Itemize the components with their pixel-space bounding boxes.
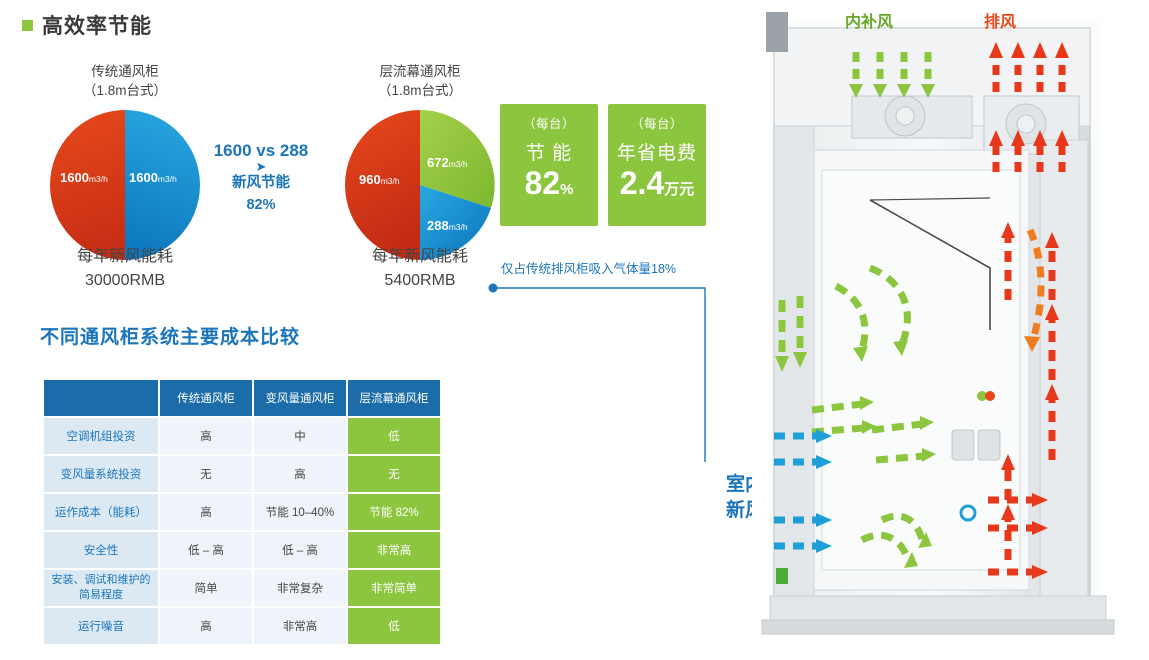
table-cell: 高 [160, 418, 252, 454]
row-label: 运行噪音 [44, 608, 158, 644]
blue-arrow-heads [816, 429, 832, 553]
table-cell: 非常高 [254, 608, 346, 644]
left-pie-slice-exhaust [50, 110, 125, 260]
green-arrow-heads-top [849, 84, 935, 98]
table-cell: 简单 [160, 570, 252, 606]
row-label: 变风量系统投资 [44, 456, 158, 492]
table-cell: 低 – 高 [160, 532, 252, 568]
table-cell: 非常复杂 [254, 570, 346, 606]
right-pie-title: 层流幕通风柜 （1.8m台式） [320, 62, 520, 100]
left-pie-label-left: 1600m3/h [60, 170, 108, 185]
table-row: 变风量系统投资 无 高 无 [44, 456, 440, 492]
table-row: 运行噪音 高 非常高 低 [44, 608, 440, 644]
right-pie-label-top: 672m3/h [427, 155, 468, 170]
right-pie-chart: 960m3/h 672m3/h 288m3/h [345, 110, 495, 260]
cost-comparison-table: 传统通风柜 变风量通风柜 层流幕通风柜 空调机组投资 高 中 低 变风量系统投资… [42, 378, 442, 646]
table-row: 运作成本（能耗） 高 节能 10–40% 节能 82% [44, 494, 440, 530]
table-cell: 高 [254, 456, 346, 492]
table-row: 安全性 低 – 高 低 – 高 非常高 [44, 532, 440, 568]
page-header: 高效率节能 [22, 10, 152, 40]
green-swirl-arrows [782, 268, 924, 560]
badge-energy-saving: （每台） 节 能 82% [500, 104, 598, 226]
green-supply-arrows [856, 52, 928, 82]
header-bullet-icon [22, 20, 33, 31]
orange-curve-arrow [1030, 230, 1041, 336]
left-pie-label-right: 1600m3/h [129, 170, 177, 185]
left-pie-footer: 每年新风能耗 30000RMB [35, 245, 215, 293]
table-title: 不同通风柜系统主要成本比较 [40, 322, 300, 349]
page-title: 高效率节能 [42, 10, 152, 40]
table-header-3: 层流幕通风柜 [348, 380, 440, 416]
red-exhaust-arrows-top [996, 58, 1062, 172]
row-label: 安装、调试和维护的简易程度 [44, 570, 158, 606]
comparison-block: 1600 vs 288 ➤ 新风节能 82% [196, 140, 326, 216]
table-header-2: 变风量通风柜 [254, 380, 346, 416]
table-row: 安装、调试和维护的简易程度 简单 非常复杂 非常简单 [44, 570, 440, 606]
table-row: 空调机组投资 高 中 低 [44, 418, 440, 454]
table-cell: 无 [348, 456, 440, 492]
row-label: 安全性 [44, 532, 158, 568]
fume-hood-diagram: 内补风 排风 [752, 0, 1149, 660]
left-pie-title: 传统通风柜 （1.8m台式） [35, 62, 215, 100]
arrow-right-icon: ➤ [196, 162, 326, 172]
left-pie-slice-supply [125, 110, 200, 260]
table-cell: 节能 82% [348, 494, 440, 530]
table-cell: 低 [348, 418, 440, 454]
comparison-sub1: 新风节能 [196, 172, 326, 194]
table-cell: 低 [348, 608, 440, 644]
table-cell: 无 [160, 456, 252, 492]
red-arrow-heads-top [989, 42, 1069, 146]
right-pie-label-bottom: 288m3/h [427, 218, 468, 233]
green-arrow-heads-mid [775, 340, 936, 568]
row-label: 空调机组投资 [44, 418, 158, 454]
table-cell: 中 [254, 418, 346, 454]
red-exhaust-column [1008, 238, 1052, 560]
table-header-row: 传统通风柜 变风量通风柜 层流幕通风柜 [44, 380, 440, 416]
table-cell: 低 – 高 [254, 532, 346, 568]
airflow-arrows [752, 0, 1149, 660]
table-cell: 非常简单 [348, 570, 440, 606]
table-cell: 节能 10–40% [254, 494, 346, 530]
callout-leader-line [485, 272, 725, 472]
left-pie-chart: 1600m3/h 1600m3/h [50, 110, 200, 260]
blue-fresh-air-arrows [774, 436, 818, 546]
table-header-1: 传统通风柜 [160, 380, 252, 416]
comparison-sub2: 82% [196, 194, 326, 216]
table-header-0 [44, 380, 158, 416]
row-label: 运作成本（能耗） [44, 494, 158, 530]
badge-cost-saving: （每台） 年省电费 2.4万元 [608, 104, 706, 226]
red-bottom-arrow-heads [1032, 493, 1048, 579]
table-cell: 非常高 [348, 532, 440, 568]
table-cell: 高 [160, 494, 252, 530]
right-pie-label-left: 960m3/h [359, 172, 400, 187]
table-cell: 高 [160, 608, 252, 644]
